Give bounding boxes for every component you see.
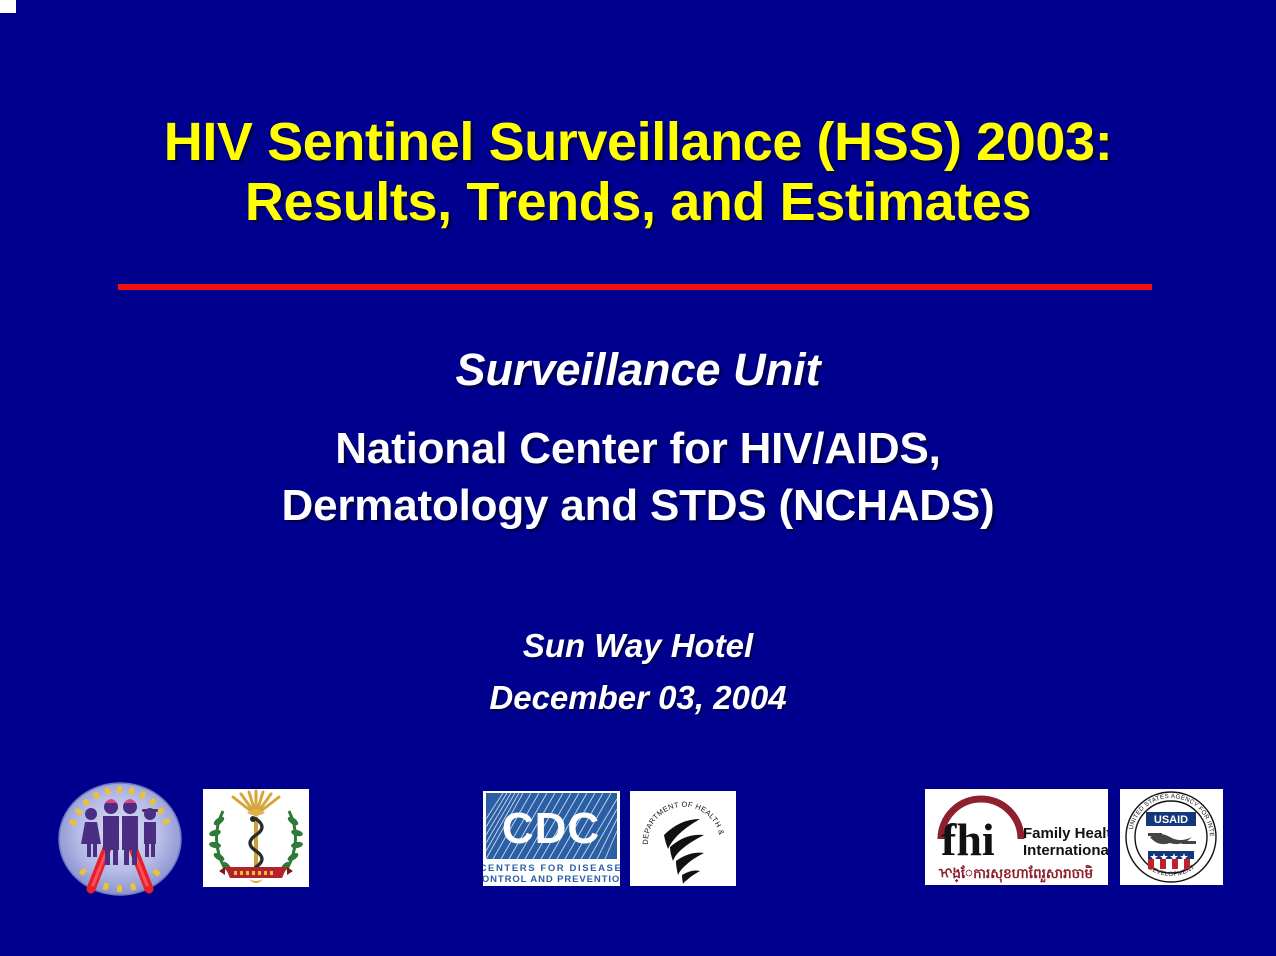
slide-title: HIV Sentinel Surveillance (HSS) 2003: Re… bbox=[0, 112, 1276, 232]
usaid-logo: UNITED STATES AGENCY FOR INTERNATIONAL D… bbox=[1120, 789, 1223, 885]
fhi-khmer-text: ᠢង្ែការសុខហាពែរួសារាចាមិ bbox=[938, 864, 1094, 883]
event-date: December 03, 2004 bbox=[0, 672, 1276, 724]
fhi-text-line2: International bbox=[1023, 842, 1108, 859]
cdc-tagline-line1: CENTERS FOR DISEASE bbox=[483, 863, 620, 874]
fhi-text-line1: Family Health bbox=[1023, 825, 1108, 842]
cdc-tagline-line2: CONTROL AND PREVENTION bbox=[483, 874, 620, 885]
ministry-of-health-logo bbox=[203, 789, 309, 887]
fhi-wordmark: fhi bbox=[941, 814, 995, 865]
usaid-wordmark: USAID bbox=[1154, 814, 1188, 826]
presentation-slide: HIV Sentinel Surveillance (HSS) 2003: Re… bbox=[0, 0, 1276, 956]
title-line-1: HIV Sentinel Surveillance (HSS) 2003: bbox=[0, 112, 1276, 172]
organization-name-line-2: Dermatology and STDS (NCHADS) bbox=[0, 477, 1276, 534]
hhs-logo: DEPARTMENT OF HEALTH & HUMAN SERVICES · … bbox=[630, 791, 736, 886]
event-block: Sun Way Hotel December 03, 2004 bbox=[0, 620, 1276, 724]
nchads-seal-logo bbox=[58, 781, 182, 897]
fhi-logo: fhi Family Health International ᠢង្ែការស… bbox=[925, 789, 1108, 885]
top-left-corner-marker bbox=[0, 0, 16, 13]
event-venue: Sun Way Hotel bbox=[0, 620, 1276, 672]
organization-unit: Surveillance Unit bbox=[0, 342, 1276, 398]
organization-spacer bbox=[0, 398, 1276, 420]
svg-text:CDC: CDC bbox=[502, 804, 600, 853]
title-line-2: Results, Trends, and Estimates bbox=[0, 172, 1276, 232]
organization-block: Surveillance Unit National Center for HI… bbox=[0, 342, 1276, 534]
cdc-logo: CDC CENTERS FOR DISEASE CONTROL AND PREV… bbox=[483, 791, 620, 886]
organization-name-line-1: National Center for HIV/AIDS, bbox=[0, 420, 1276, 477]
title-divider-rule bbox=[118, 284, 1152, 290]
